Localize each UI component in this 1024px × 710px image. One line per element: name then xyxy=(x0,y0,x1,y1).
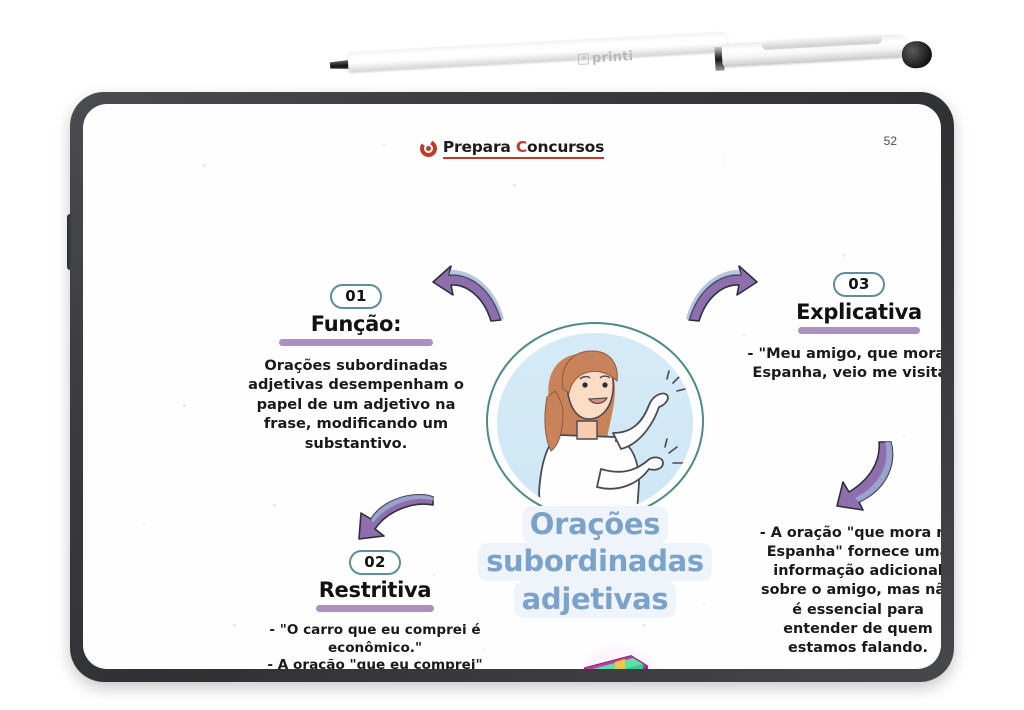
page-title-line-3: adjetivas xyxy=(514,581,677,618)
brand-name-part1: Prepara xyxy=(443,138,516,156)
page-title-line-2: subordinadas xyxy=(478,543,712,580)
section-01-underline xyxy=(279,339,433,346)
speck xyxy=(183,404,186,407)
speck xyxy=(143,524,145,526)
speck xyxy=(643,624,646,627)
section-03-body: - "Meu amigo, que mora na Espanha, veio … xyxy=(747,344,941,383)
speck xyxy=(233,624,236,627)
section-03-underline xyxy=(798,327,920,334)
brand-header: Prepara Concursos xyxy=(83,138,941,159)
speck xyxy=(273,504,276,507)
section-01-title: Função: xyxy=(243,312,469,336)
tablet-device: Prepara Concursos 52 xyxy=(70,92,954,682)
section-02-body: - "O carro que eu comprei é econômico." … xyxy=(259,622,491,669)
section-02: 02 Restritiva - "O carro que eu comprei … xyxy=(259,550,491,669)
section-03-badge: 03 xyxy=(833,272,884,297)
speck xyxy=(513,184,516,187)
tablet-screen: Prepara Concursos 52 xyxy=(83,104,941,669)
brand-name-part2: oncursos xyxy=(527,138,604,156)
section-01-body: Orações subordinadas adjetivas desempenh… xyxy=(243,356,469,453)
brand-name: Prepara Concursos xyxy=(443,138,604,159)
printi-square-logo-icon xyxy=(578,53,590,65)
explanation-body: - A oração "que mora na Espanha" fornece… xyxy=(755,524,941,658)
pen-stylus-tip xyxy=(901,40,932,69)
page-title: Orações subordinadas adjetivas xyxy=(471,506,719,618)
speck xyxy=(843,254,846,257)
volume-button[interactable] xyxy=(67,214,72,270)
page-title-line-1: Orações xyxy=(522,506,668,543)
slide-canvas: Prepara Concursos 52 xyxy=(83,104,941,669)
speck xyxy=(743,334,745,336)
speck xyxy=(723,159,725,161)
section-03-title: Explicativa xyxy=(747,300,941,324)
pen-body xyxy=(347,31,728,72)
section-01: 01 Função: Orações subordinadas adjetiva… xyxy=(243,284,469,453)
explanation-block: - A oração "que mora na Espanha" fornece… xyxy=(755,524,941,658)
section-02-badge: 02 xyxy=(349,550,400,575)
woman-pointing-illustration xyxy=(497,333,693,513)
printi-brand-label: printi xyxy=(592,49,634,66)
speck xyxy=(903,434,905,436)
section-01-badge: 01 xyxy=(330,284,381,309)
prepara-concursos-logo-icon xyxy=(420,140,437,157)
page-number: 52 xyxy=(884,134,897,148)
printi-logo: printi xyxy=(578,49,634,67)
section-03: 03 Explicativa - "Meu amigo, que mora na… xyxy=(747,272,941,383)
stylus-pen: printi xyxy=(330,28,930,98)
speck xyxy=(203,164,206,167)
arrow-bottom-left-icon xyxy=(351,489,437,551)
section-02-title: Restritiva xyxy=(259,578,491,602)
brand-name-highlight: C xyxy=(516,138,527,156)
arrow-bottom-right-icon xyxy=(819,436,901,512)
section-02-underline xyxy=(316,605,434,612)
walking-book-character xyxy=(555,632,681,669)
